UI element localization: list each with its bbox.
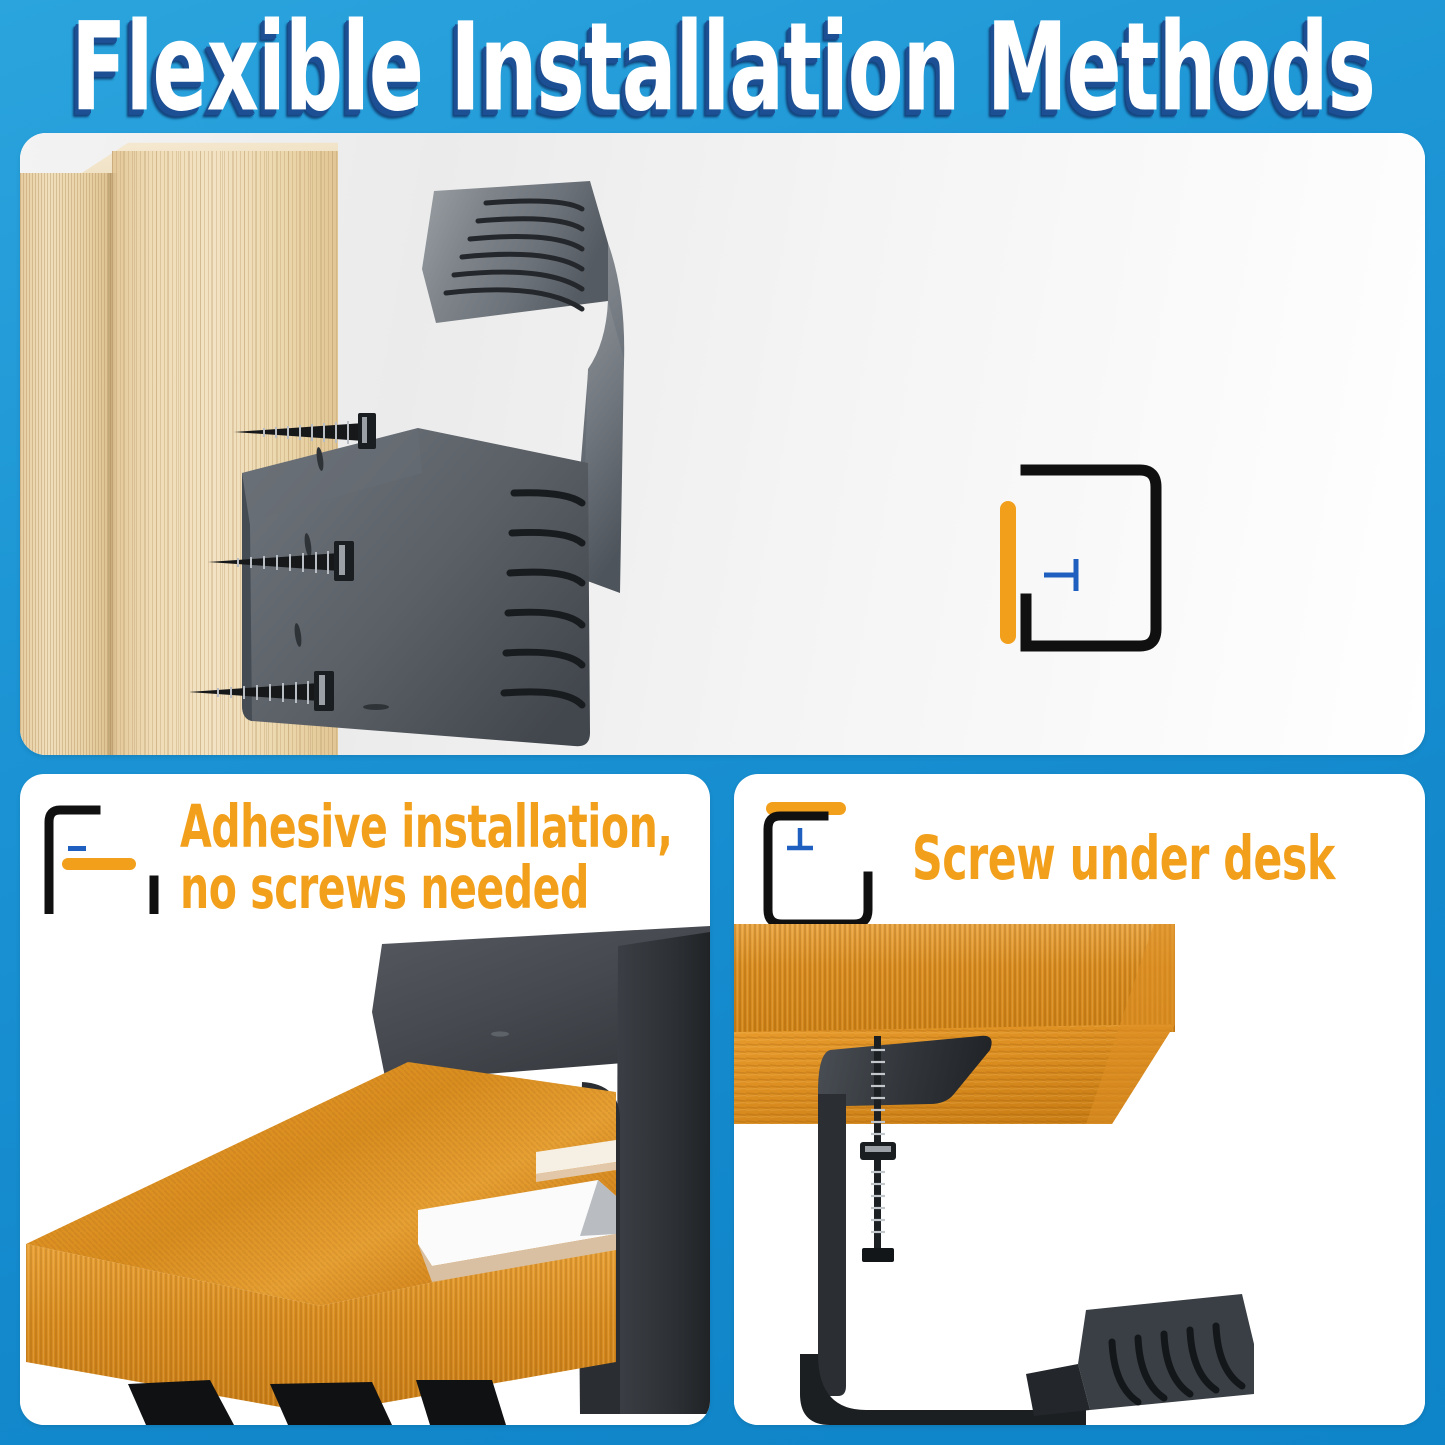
mount-direction-marker (1044, 559, 1076, 591)
screw-under-desk-photo (734, 924, 1425, 1425)
adhesive-heading-line2: no screws needed (180, 859, 674, 920)
adhesive-pad-marker (62, 858, 136, 870)
screw-photo-svg (734, 924, 1425, 1425)
adhesive-photo (20, 914, 710, 1425)
side-mount-diagram-svg (960, 463, 1200, 678)
desk-leg-marker (1000, 501, 1016, 644)
screw-under-desk-diagram (758, 792, 876, 932)
wood-leg-side-face (20, 173, 114, 755)
page-title-container: Flexible Installation Methods (0, 8, 1445, 126)
bracket-svg (190, 173, 630, 748)
side-mount-diagram (960, 463, 1200, 678)
panel-side-mount (20, 133, 1425, 755)
cable-tray-bracket (190, 173, 630, 743)
page-title: Flexible Installation Methods (71, 6, 1375, 128)
infographic-root: Flexible Installation Methods (0, 0, 1445, 1445)
adhesive-heading-text: Adhesive installation, no screws needed (180, 798, 674, 920)
panel-screw-under-desk: Screw under desk (734, 774, 1425, 1425)
panel-adhesive-installation: Adhesive installation, no screws needed (20, 774, 710, 1425)
adhesive-dash-marker (68, 846, 86, 851)
screw-under-desk-diagram-svg (758, 792, 876, 932)
screw-heading-block: Screw under desk (752, 780, 1412, 942)
adhesive-photo-svg (20, 914, 710, 1425)
adhesive-heading-line1: Adhesive installation, (180, 798, 674, 859)
wood-leg-edge-shadow (108, 173, 118, 755)
mount-direction-marker (787, 828, 813, 848)
screw-heading-text: Screw under desk (912, 828, 1406, 890)
side-mount-photo (20, 133, 1425, 755)
